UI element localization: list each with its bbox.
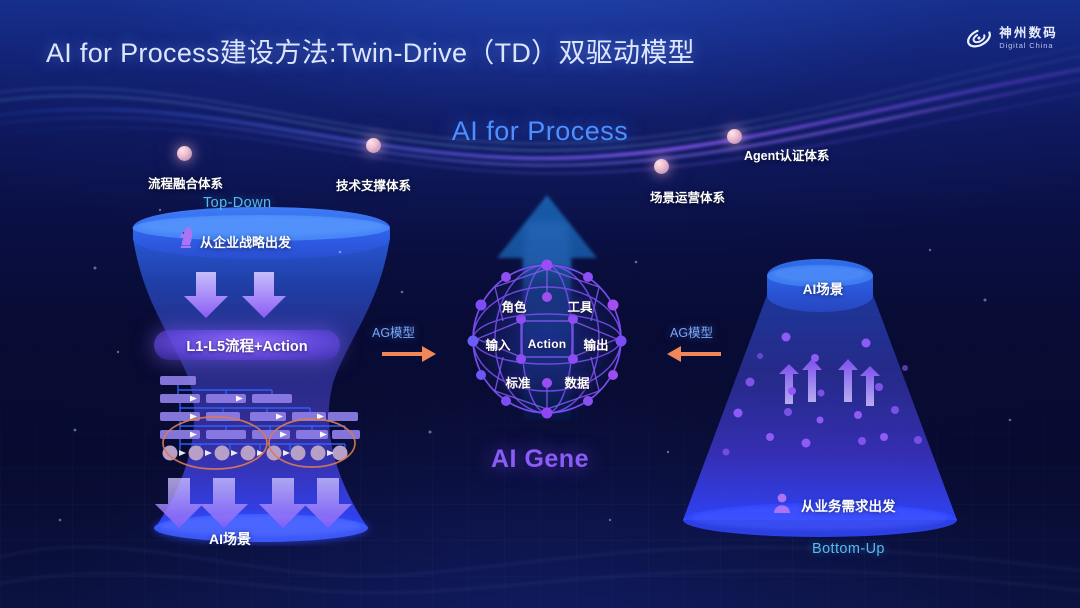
timeline-node-label-1: 技术支撑体系: [336, 175, 411, 194]
right-funnel-top-label: AI场景: [0, 278, 1080, 298]
right-up-arrows: [779, 359, 880, 406]
gene-node-output: 输出: [583, 335, 608, 354]
logo-text-en: Digital China: [999, 42, 1058, 50]
logo-text-cn: 神州数码: [999, 27, 1058, 40]
arrow-right-icon: [382, 346, 436, 362]
particle-dots: [723, 333, 923, 456]
left-funnel-bottom-label: AI场景: [0, 529, 460, 549]
ag-model-label-right: AG模型: [670, 322, 713, 341]
left-funnel-shape: [133, 207, 391, 543]
brand-logo: 神州数码 Digital China: [966, 25, 1058, 51]
gene-node-role: 角色: [501, 297, 526, 316]
gene-node-standard: 标准: [505, 373, 530, 392]
center-heading: AI for Process: [0, 116, 1080, 147]
left-down-arrows-lower: [155, 478, 352, 528]
section-caption-top-down: Top-Down: [203, 195, 271, 211]
timeline-node-dot-0[interactable]: [177, 146, 192, 161]
chess-knight-icon: [174, 224, 196, 250]
timeline-node-dot-1[interactable]: [366, 138, 381, 153]
timeline-node-label-3: Agent认证体系: [744, 145, 829, 164]
arrow-left-icon: [667, 346, 721, 362]
left-funnel-top-label: 从企业战略出发: [200, 232, 291, 251]
left-funnel-pill-label: L1-L5流程+Action: [154, 330, 340, 360]
swirl-logo-icon: [966, 25, 992, 51]
timeline-node-dot-2[interactable]: [654, 159, 669, 174]
person-icon: [772, 492, 792, 514]
ai-gene-title: AI Gene: [0, 445, 1080, 474]
right-funnel-bottom-label: 从业务需求出发: [801, 495, 896, 515]
timeline-node-label-0: 流程融合体系: [148, 173, 223, 192]
timeline-node-dot-3[interactable]: [727, 129, 742, 144]
ag-model-label-left: AG模型: [372, 322, 415, 341]
slide-canvas: AI for Process建设方法:Twin-Drive（TD）双驱动模型 神…: [0, 0, 1080, 608]
timeline-node-label-2: 场景运营体系: [650, 187, 725, 206]
gene-node-input: 输入: [485, 335, 510, 354]
page-title: AI for Process建设方法:Twin-Drive（TD）双驱动模型: [46, 31, 695, 70]
gene-node-data: 数据: [564, 373, 589, 392]
gene-node-tool: 工具: [567, 297, 592, 316]
gene-node-action: Action: [528, 337, 567, 351]
section-caption-bottom-up: Bottom-Up: [812, 541, 885, 557]
